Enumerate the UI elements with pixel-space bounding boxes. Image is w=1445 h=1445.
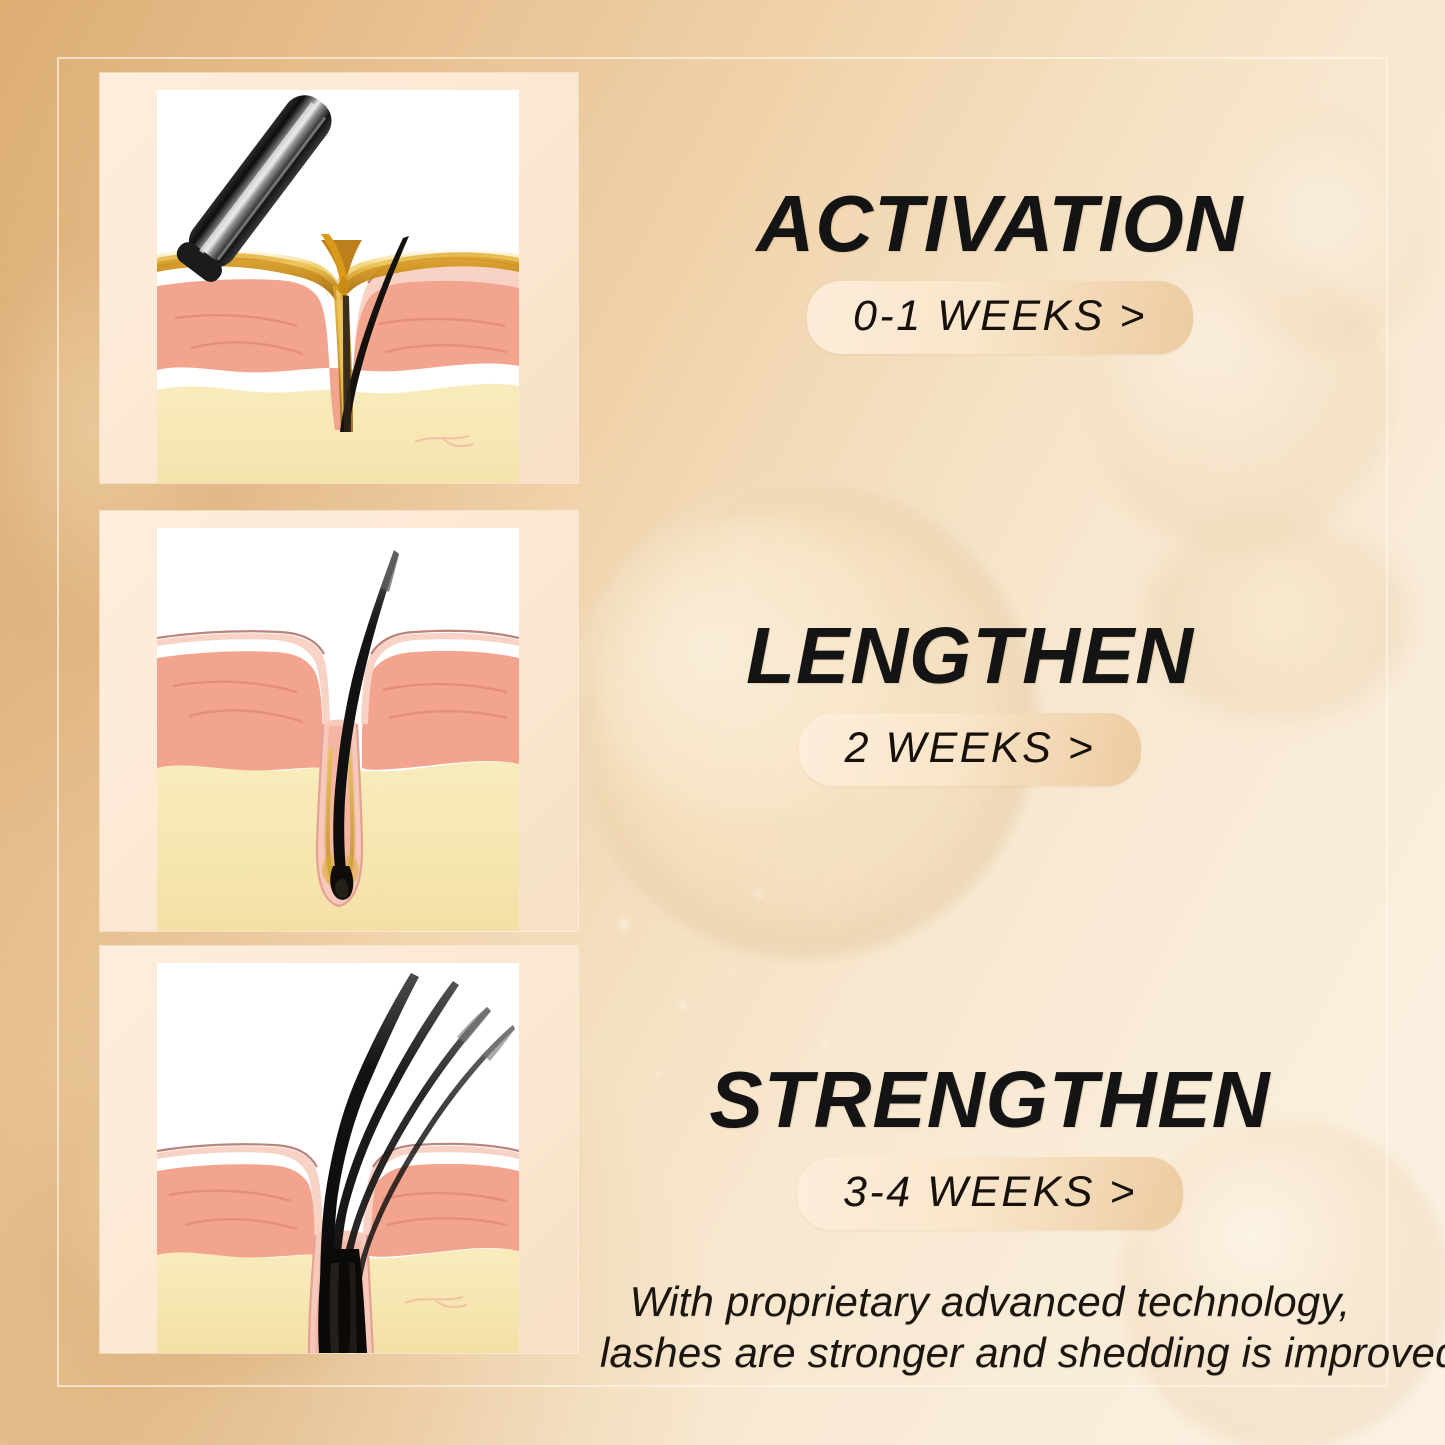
panel-activation: [100, 73, 578, 483]
step-title-activation: ACTIVATION: [620, 186, 1380, 263]
step-duration-wrapper-activation: 0-1 WEEKS >: [620, 281, 1380, 354]
multiple-hairs-follicle-icon: [157, 963, 519, 1353]
step-activation: ACTIVATION 0-1 WEEKS >: [620, 186, 1380, 354]
step-duration-wrapper-strengthen: 3-4 WEEKS >: [600, 1157, 1380, 1230]
panel-strengthen: [100, 946, 578, 1353]
step-duration-badge-lengthen[interactable]: 2 WEEKS >: [799, 713, 1142, 786]
step-strengthen: STRENGTHEN 3-4 WEEKS > With proprietary …: [600, 1062, 1380, 1378]
step-duration-badge-activation[interactable]: 0-1 WEEKS >: [807, 281, 1193, 354]
step-lengthen: LENGTHEN 2 WEEKS >: [620, 618, 1320, 786]
lengthen-illustration: [157, 528, 519, 931]
step-title-lengthen: LENGTHEN: [620, 618, 1320, 695]
step-duration-wrapper-lengthen: 2 WEEKS >: [620, 713, 1320, 786]
single-hair-follicle-icon: [157, 528, 519, 931]
panel-lengthen: [100, 511, 578, 931]
tagline-line-1: With proprietary advanced technology,: [600, 1276, 1380, 1327]
tagline-line-2: lashes are stronger and shedding is impr…: [600, 1327, 1380, 1378]
step-duration-badge-strengthen[interactable]: 3-4 WEEKS >: [797, 1157, 1183, 1230]
serum-applicator-follicle-icon: [157, 90, 519, 483]
infographic-canvas: ACTIVATION 0-1 WEEKS > LENGTHEN 2 WEEKS …: [0, 0, 1445, 1445]
strengthen-illustration: [157, 963, 519, 1353]
tagline: With proprietary advanced technology, la…: [600, 1276, 1380, 1378]
step-title-strengthen: STRENGTHEN: [600, 1062, 1380, 1139]
activation-illustration: [157, 90, 519, 483]
